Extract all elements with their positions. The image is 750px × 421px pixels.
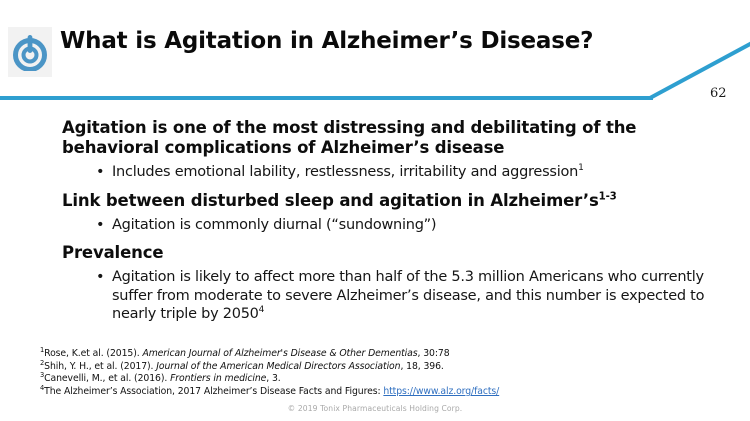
footnote-source: Frontiers in medicine (170, 373, 266, 384)
link-heading-label: Link between disturbed sleep and agitati… (62, 191, 599, 210)
footnote-locator: , 30:78 (418, 348, 450, 359)
footnote-item: 4The Alzheimer’s Association, 2017 Alzhe… (40, 386, 730, 399)
footnote-list: 1Rose, K.et al. (2015). American Journal… (40, 348, 730, 398)
footnote-locator: , 18, 396. (400, 361, 443, 372)
footnote-item: 1Rose, K.et al. (2015). American Journal… (40, 348, 730, 361)
footnote-source: American Journal of Alzheimer's Disease … (142, 348, 417, 359)
footnote-link[interactable]: https://www.alz.org/facts/ (383, 386, 499, 397)
bullet-glyph: • (96, 268, 104, 287)
company-logo (8, 27, 52, 77)
header-rule-horizontal (0, 96, 653, 100)
prevalence-heading: Prevalence (0, 243, 750, 263)
footnote-author: The Alzheimer’s Association, 2017 Alzhei… (44, 386, 383, 397)
spacer (0, 234, 750, 243)
slide: What is Agitation in Alzheimer’s Disease… (0, 0, 750, 421)
list-item: •Includes emotional lability, restlessne… (0, 163, 750, 182)
footnote-item: 3Canevelli, M., et al. (2016). Frontiers… (40, 373, 730, 386)
footnote-author: Shih, Y. H., et al. (2017). (44, 361, 156, 372)
list-item-label: Agitation is likely to affect more than … (112, 269, 704, 322)
spacer (0, 182, 750, 191)
copyright-notice: © 2019 Tonix Pharmaceuticals Holding Cor… (0, 404, 750, 413)
bullet-glyph: • (96, 216, 104, 235)
footnote-locator: , 3. (266, 373, 280, 384)
page-number: 62 (710, 86, 727, 101)
list-item-label: Includes emotional lability, restlessnes… (112, 164, 578, 180)
slide-body: Agitation is one of the most distressing… (0, 118, 750, 324)
link-heading: Link between disturbed sleep and agitati… (0, 191, 750, 211)
footnote-author: Rose, K.et al. (2015). (44, 348, 142, 359)
list-item: •Agitation is likely to affect more than… (0, 268, 750, 324)
page-title: What is Agitation in Alzheimer’s Disease… (60, 28, 593, 54)
bullet-glyph: • (96, 163, 104, 182)
list-item-label: Agitation is commonly diurnal (“sundowni… (112, 217, 436, 233)
header-rule-diagonal (640, 36, 750, 102)
list-item: •Agitation is commonly diurnal (“sundown… (0, 216, 750, 235)
power-button-logo-icon (13, 33, 47, 71)
footnote-item: 2Shih, Y. H., et al. (2017). Journal of … (40, 361, 730, 374)
reference-marker: 1-3 (599, 191, 617, 202)
reference-marker: 4 (259, 305, 264, 315)
lead-heading: Agitation is one of the most distressing… (0, 118, 750, 158)
footnote-source: Journal of the American Medical Director… (156, 361, 400, 372)
footnote-author: Canevelli, M., et al. (2016). (44, 373, 170, 384)
reference-marker: 1 (578, 163, 583, 173)
